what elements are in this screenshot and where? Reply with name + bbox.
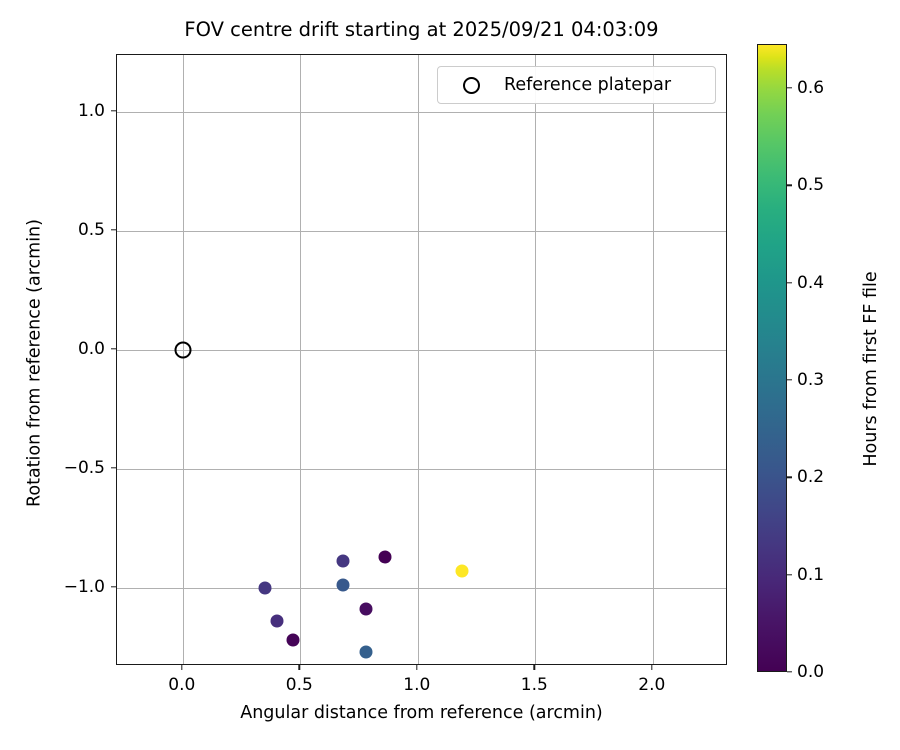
x-tick	[299, 665, 300, 670]
scatter-point	[360, 645, 373, 658]
colorbar-tick	[787, 282, 792, 283]
scatter-point	[259, 581, 272, 594]
y-tick-label: 1.0	[11, 101, 105, 121]
x-tick-label: 1.0	[403, 675, 430, 695]
scatter-point	[378, 550, 391, 563]
colorbar-tick	[787, 671, 792, 672]
legend: Reference platepar	[437, 66, 716, 104]
gridline-vertical	[653, 55, 654, 664]
gridline-vertical	[418, 55, 419, 664]
scatter-point	[456, 564, 469, 577]
x-tick	[181, 665, 182, 670]
y-tick-label: −0.5	[11, 458, 105, 478]
x-tick	[651, 665, 652, 670]
x-tick-label: 1.5	[521, 675, 548, 695]
y-tick-label: 0.0	[11, 339, 105, 359]
gridline-vertical	[535, 55, 536, 664]
y-tick	[111, 586, 116, 587]
scatter-point	[270, 614, 283, 627]
colorbar-tick	[787, 184, 792, 185]
reference-circle-icon	[463, 77, 480, 94]
colorbar-tick-label: 0.3	[797, 370, 824, 390]
scatter-point	[360, 602, 373, 615]
scatter-point	[287, 633, 300, 646]
colorbar-tick-label: 0.0	[797, 662, 824, 682]
x-tick-label: 0.5	[286, 675, 313, 695]
colorbar-tick	[787, 574, 792, 575]
x-tick-label: 2.0	[638, 675, 665, 695]
gridline-vertical	[183, 55, 184, 664]
colorbar-tick-label: 0.4	[797, 273, 824, 293]
x-axis-label: Angular distance from reference (arcmin)	[116, 702, 727, 724]
colorbar: 0.00.10.20.30.40.50.6	[757, 44, 787, 672]
page-title: FOV centre drift starting at 2025/09/21 …	[116, 18, 727, 42]
y-tick	[111, 348, 116, 349]
legend-entry-label: Reference platepar	[504, 75, 671, 95]
colorbar-gradient	[757, 44, 787, 672]
gridline-vertical	[300, 55, 301, 664]
gridline-horizontal	[117, 469, 726, 470]
colorbar-tick	[787, 87, 792, 88]
y-tick	[111, 467, 116, 468]
colorbar-tick-label: 0.6	[797, 78, 824, 98]
colorbar-tick-label: 0.5	[797, 175, 824, 195]
scatter-point	[336, 579, 349, 592]
colorbar-tick-label: 0.1	[797, 565, 824, 585]
gridline-horizontal	[117, 588, 726, 589]
x-tick	[534, 665, 535, 670]
colorbar-tick	[787, 379, 792, 380]
x-tick-label: 0.0	[168, 675, 195, 695]
legend-marker-wrap	[438, 77, 504, 94]
gridline-horizontal	[117, 350, 726, 351]
y-tick	[111, 110, 116, 111]
x-tick	[416, 665, 417, 670]
colorbar-label: Hours from first FF file	[860, 55, 882, 683]
reference-platepar-marker	[174, 341, 191, 358]
colorbar-tick	[787, 477, 792, 478]
y-tick-label: −1.0	[11, 577, 105, 597]
y-tick-label: 0.5	[11, 220, 105, 240]
gridline-horizontal	[117, 112, 726, 113]
plot-area	[116, 54, 727, 665]
gridline-horizontal	[117, 231, 726, 232]
scatter-point	[336, 555, 349, 568]
y-tick	[111, 229, 116, 230]
matplotlib-figure: FOV centre drift starting at 2025/09/21 …	[0, 0, 900, 750]
colorbar-tick-label: 0.2	[797, 467, 824, 487]
